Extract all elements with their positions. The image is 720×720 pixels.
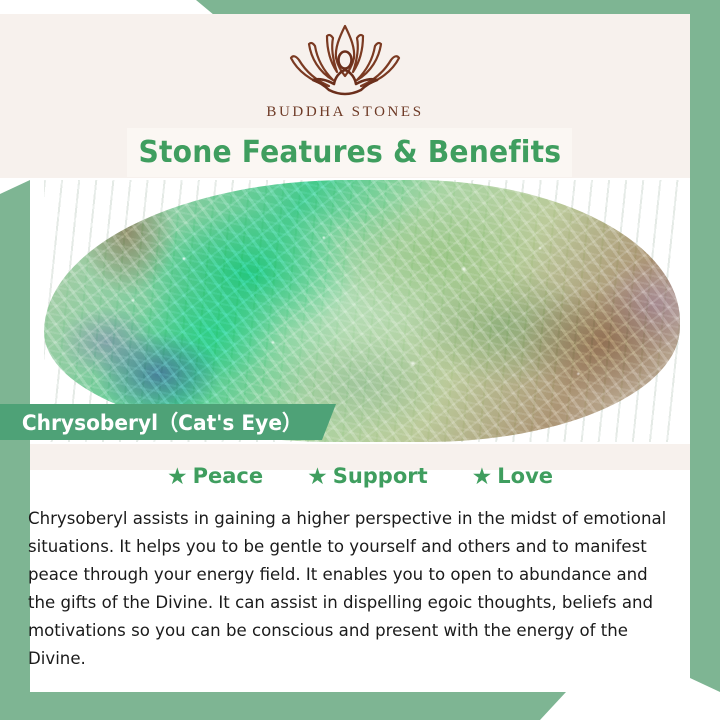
stone-specimen-image: [44, 180, 680, 442]
star-icon: ★: [167, 465, 188, 488]
star-icon: ★: [307, 465, 328, 488]
stone-name-text: Chrysoberyl（Cat's Eye）: [22, 407, 302, 437]
frame-band-right: [690, 0, 720, 692]
stone-info-poster: BUDDHA STONES Stone Features & Benefits …: [0, 0, 720, 720]
benefit-item-support: ★ Support: [307, 464, 428, 488]
stone-name-label: Chrysoberyl（Cat's Eye）: [0, 404, 336, 440]
lotus-meditation-icon: [269, 20, 421, 102]
brand-name: BUDDHA STONES: [0, 104, 690, 121]
stone-facet-texture: [44, 180, 680, 442]
page-title: Stone Features & Benefits: [138, 135, 561, 170]
benefit-item-peace: ★ Peace: [167, 464, 263, 488]
star-icon: ★: [472, 465, 493, 488]
benefit-label: Peace: [193, 464, 264, 488]
benefit-label: Love: [497, 464, 553, 488]
stone-description: Chrysoberyl assists in gaining a higher …: [28, 505, 671, 673]
brand-block: BUDDHA STONES: [0, 20, 690, 121]
benefits-row: ★ Peace ★ Support ★ Love: [30, 464, 690, 488]
frame-band-bottom: [0, 692, 566, 720]
title-banner: Stone Features & Benefits: [127, 128, 572, 177]
frame-band-top: [196, 0, 720, 15]
benefit-label: Support: [333, 464, 428, 488]
stone-sparkle-texture: [44, 180, 680, 442]
benefit-item-love: ★ Love: [472, 464, 553, 488]
